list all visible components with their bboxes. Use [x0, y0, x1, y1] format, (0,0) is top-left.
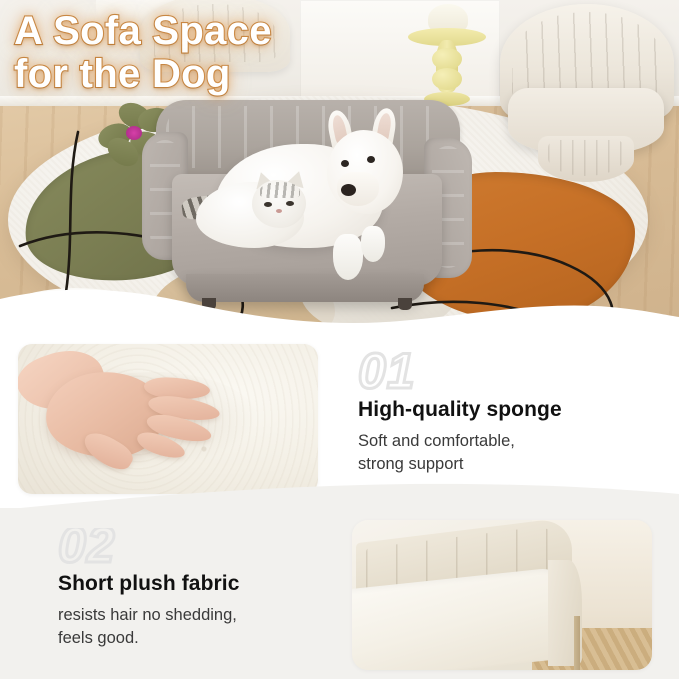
feature-body-01: Soft and comfortable, strong support: [358, 430, 515, 477]
page-title: A Sofa Space for the Dog: [14, 10, 272, 96]
feature-body-02: resists hair no shedding, feels good.: [58, 604, 237, 651]
feature-photo-plush-fabric: [352, 520, 652, 670]
page-title-line-2: for the Dog: [14, 53, 272, 96]
feature-body-02-line-2: feels good.: [58, 627, 237, 650]
feature-photo-sponge: [18, 344, 318, 494]
product-infographic: A Sofa Space for the Dog 01 High-quality…: [0, 0, 679, 679]
feature-number-01: 01: [358, 342, 416, 400]
feature-body-01-line-1: Soft and comfortable,: [358, 430, 515, 453]
dog-paw: [361, 226, 385, 262]
hero-wave-divider: [0, 281, 679, 340]
cat-head-stripes: [260, 182, 300, 198]
dog-paw: [333, 234, 363, 280]
dog-nose: [341, 184, 356, 196]
cat-nose: [276, 209, 282, 213]
dog-eye: [367, 156, 375, 163]
cat-eye: [264, 202, 272, 207]
page-title-line-1: A Sofa Space: [14, 10, 272, 53]
pedestal-side-table: [408, 4, 486, 110]
cat-eye: [286, 201, 294, 206]
pedestal-knob: [432, 48, 462, 70]
dog-eye: [341, 160, 349, 167]
chair-base: [538, 136, 634, 182]
feature-body-01-line-2: strong support: [358, 453, 515, 476]
white-cat: [196, 168, 322, 254]
hero-banner: A Sofa Space for the Dog: [0, 0, 679, 340]
feature-body-02-line-1: resists hair no shedding,: [58, 604, 237, 627]
sofa-leg-closeup: [574, 616, 580, 670]
flower-center: [126, 126, 142, 140]
accent-chair: [494, 4, 679, 192]
feature-heading-01: High-quality sponge: [358, 398, 562, 422]
hand-pressing-foam: [24, 350, 254, 480]
pedestal-knob: [432, 68, 462, 90]
feature-heading-02: Short plush fabric: [58, 572, 239, 596]
